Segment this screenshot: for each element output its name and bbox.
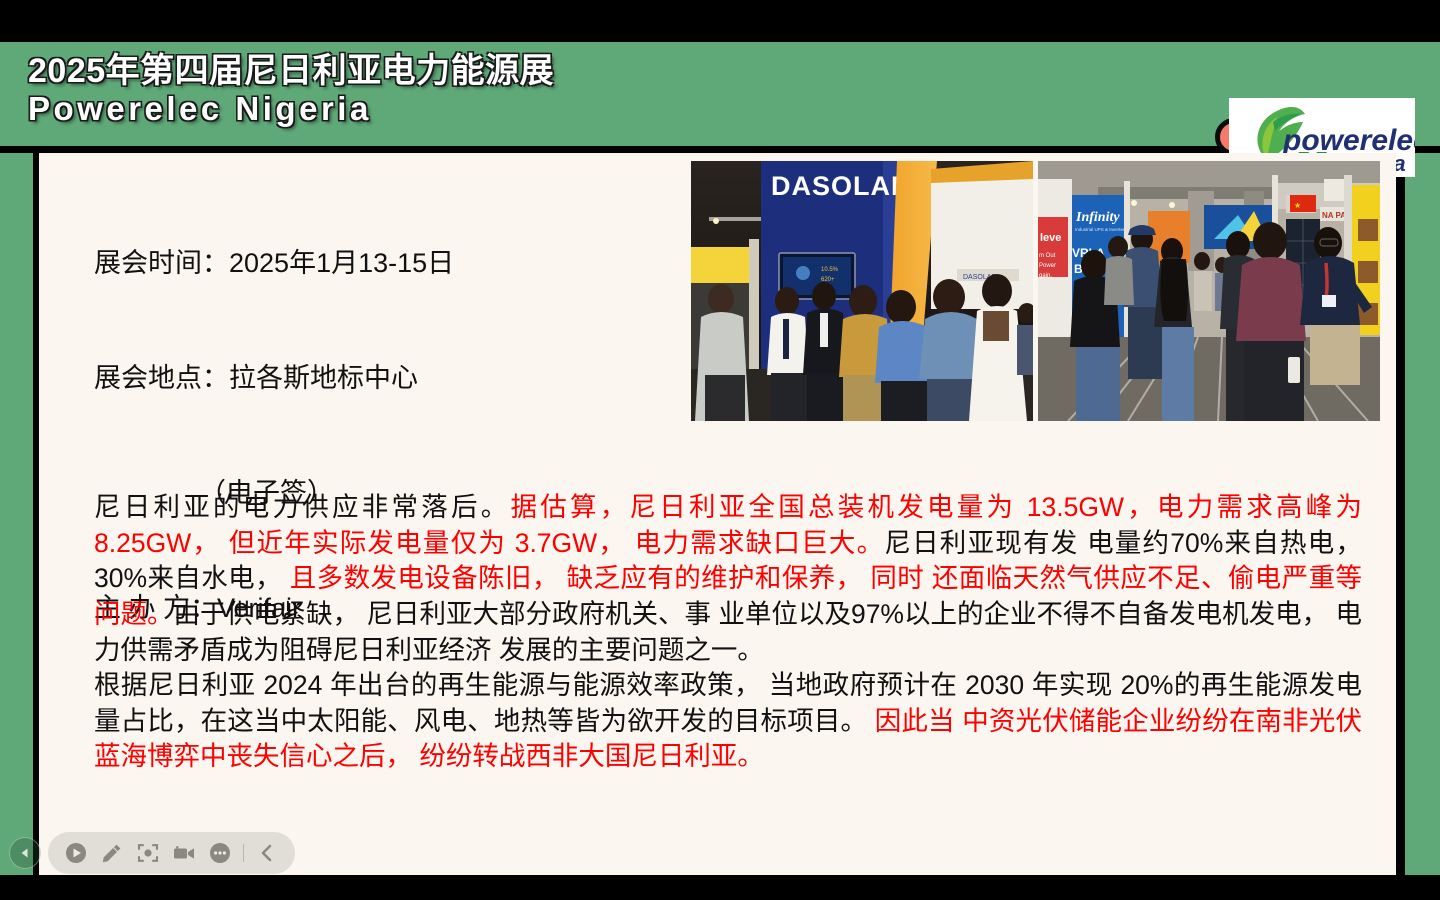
play-button[interactable] [58, 835, 94, 871]
svg-text:DASOLAR: DASOLAR [771, 171, 912, 201]
ellipsis-icon [209, 842, 231, 864]
chevron-left-icon [257, 843, 277, 863]
p1-seg-0: 尼日利亚的电力供应非常落后。 [94, 492, 510, 522]
slide-content-sheet: 展会时间：2025年1月13-15日 展会地点：拉各斯地标中心 （电子签） 主 … [39, 153, 1396, 875]
pen-button[interactable] [94, 835, 130, 871]
svg-text:Infinity: Infinity [1075, 210, 1120, 225]
record-button[interactable] [166, 835, 202, 871]
svg-text:m Out: m Out [1039, 253, 1056, 259]
play-icon [65, 842, 87, 864]
body-paragraph-1: 尼日利亚的电力供应非常落后。据估算，尼日利亚全国总装机发电量为 13.5GW，电… [94, 490, 1362, 668]
body-text-block: 尼日利亚的电力供应非常落后。据估算，尼日利亚全国总装机发电量为 13.5GW，电… [94, 490, 1362, 775]
presentation-viewer: 2025年第四届尼日利亚电力能源展 Powerelec Nigeria powe… [0, 0, 1440, 900]
svg-text:10.5%: 10.5% [821, 267, 839, 273]
slide-title-english: Powerelec Nigeria [28, 92, 1188, 125]
svg-text:Industrial UPS & Inverters: Industrial UPS & Inverters [1075, 227, 1128, 232]
photo-aisle-crowd: leve m Out Power gain. Infinity Industri… [1038, 161, 1380, 421]
slide-title-chinese: 2025年第四届尼日利亚电力能源展 [28, 54, 1188, 88]
event-date-line: 展会时间：2025年1月13-15日 [94, 244, 454, 282]
svg-text:★: ★ [1294, 201, 1301, 210]
photo-dasolar-booth: DASOLAR DASOLAR 10.5% 620+ [691, 161, 1033, 421]
collapse-button[interactable] [249, 835, 285, 871]
focus-target-icon [137, 842, 159, 864]
slide-left-green-rail [0, 42, 33, 875]
svg-text:gain.: gain. [1039, 273, 1052, 279]
toolbar-divider [243, 844, 244, 862]
previous-slide-button[interactable] [9, 837, 41, 869]
pen-icon [101, 842, 123, 864]
body-paragraph-2: 根据尼日利亚 2024 年出台的再生能源与能源效率政策， 当地政府预计在 203… [94, 668, 1362, 775]
svg-text:leve: leve [1040, 232, 1061, 244]
video-camera-icon [172, 842, 196, 864]
slide-header-titles: 2025年第四届尼日利亚电力能源展 Powerelec Nigeria [28, 54, 1188, 125]
svg-text:Power: Power [1039, 263, 1056, 269]
laser-pointer-button[interactable] [130, 835, 166, 871]
presentation-toolbar[interactable] [48, 832, 295, 874]
slide-canvas: 2025年第四届尼日利亚电力能源展 Powerelec Nigeria powe… [0, 42, 1440, 875]
more-options-button[interactable] [202, 835, 238, 871]
p1-seg-4: 由于供电紧缺， 尼日利亚大部分政府机关、事 业单位以及97%以上的企业不得不自备… [94, 599, 1362, 665]
event-venue-line: 展会地点：拉各斯地标中心 [94, 359, 454, 397]
caret-left-icon [18, 846, 32, 860]
